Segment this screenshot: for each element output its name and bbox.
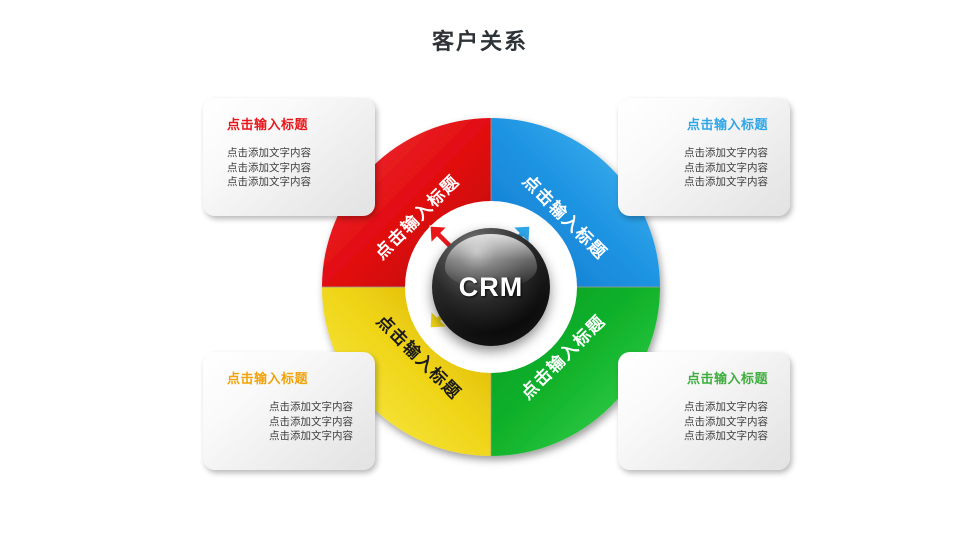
callout-title-top-right: 点击输入标题 [632,114,776,133]
callout-line: 点击添加文字内容 [227,146,361,161]
callout-line: 点击添加文字内容 [227,161,361,176]
callout-title-bottom-right: 点击输入标题 [632,368,776,387]
callout-line: 点击添加文字内容 [632,175,768,190]
callout-title-bottom-left: 点击输入标题 [217,368,361,387]
callout-card-top-right[interactable]: 点击输入标题 点击添加文字内容 点击添加文字内容 点击添加文字内容 [618,98,790,216]
callout-body-top-right: 点击添加文字内容 点击添加文字内容 点击添加文字内容 [632,146,776,190]
page-title: 客户关系 [0,24,960,56]
callout-line: 点击添加文字内容 [217,400,353,415]
callout-line: 点击添加文字内容 [632,415,768,430]
callout-line: 点击添加文字内容 [632,146,768,161]
callout-card-bottom-left[interactable]: 点击输入标题 点击添加文字内容 点击添加文字内容 点击添加文字内容 [203,352,375,470]
callout-body-top-left: 点击添加文字内容 点击添加文字内容 点击添加文字内容 [217,146,361,190]
callout-line: 点击添加文字内容 [632,161,768,176]
wheel-reflection [322,462,660,540]
callout-line: 点击添加文字内容 [227,175,361,190]
callout-line: 点击添加文字内容 [217,429,353,444]
crm-center-sphere[interactable]: CRM [432,228,550,346]
callout-title-top-left: 点击输入标题 [217,114,361,133]
callout-line: 点击添加文字内容 [632,400,768,415]
callout-body-bottom-right: 点击添加文字内容 点击添加文字内容 点击添加文字内容 [632,400,776,444]
crm-center-label: CRM [459,272,524,303]
callout-line: 点击添加文字内容 [217,415,353,430]
callout-card-top-left[interactable]: 点击输入标题 点击添加文字内容 点击添加文字内容 点击添加文字内容 [203,98,375,216]
callout-body-bottom-left: 点击添加文字内容 点击添加文字内容 点击添加文字内容 [217,400,361,444]
callout-line: 点击添加文字内容 [632,429,768,444]
callout-card-bottom-right[interactable]: 点击输入标题 点击添加文字内容 点击添加文字内容 点击添加文字内容 [618,352,790,470]
